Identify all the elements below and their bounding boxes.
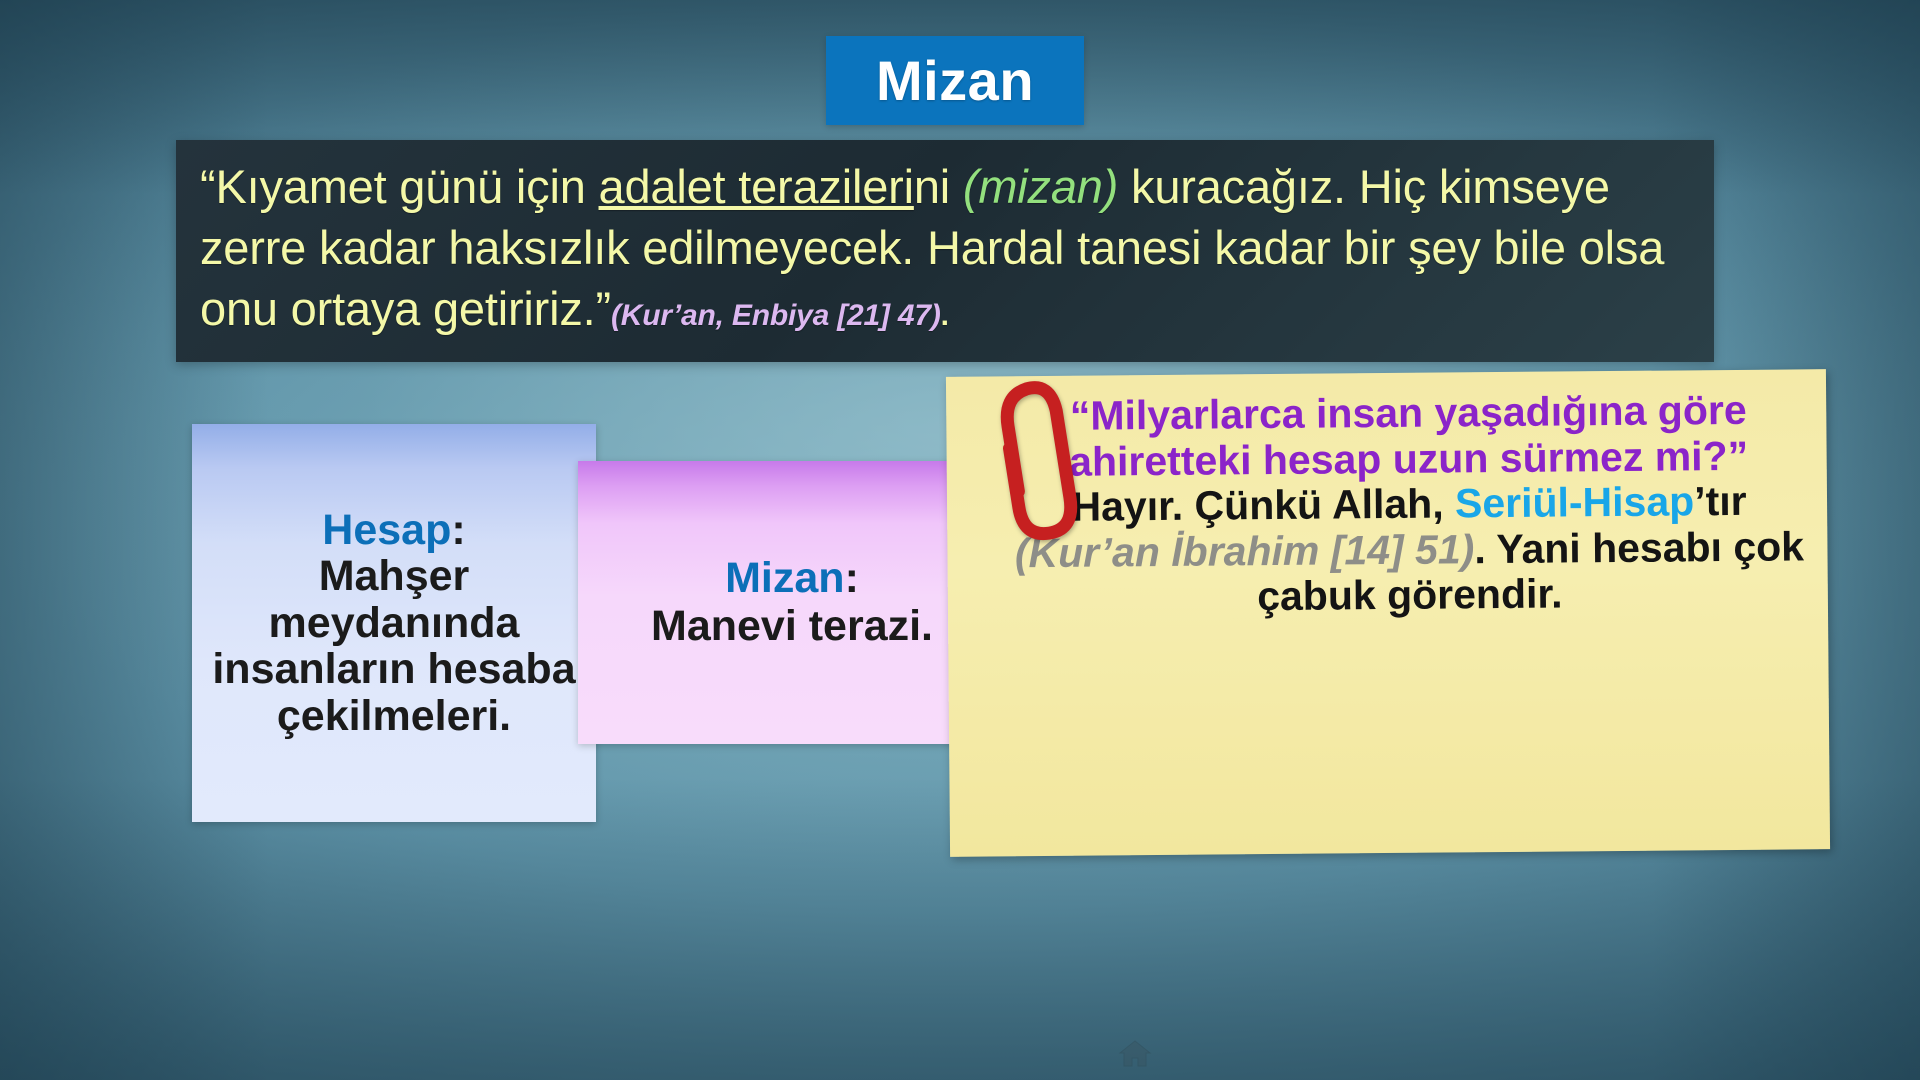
quote-close-quote: ” [595, 282, 610, 335]
mizan-colon: : [845, 554, 859, 602]
paperclip-icon [960, 352, 1100, 552]
note-answer-part-2: ’tır [1694, 478, 1747, 524]
note-term-seriul-hisap: Seriül-Hisap [1455, 478, 1695, 526]
quote-citation: (Kur’an, Enbiya [21] 47) [611, 299, 941, 332]
quote-citation-period: . [941, 299, 949, 332]
quote-underlined-phrase: adalet terazileri [599, 160, 914, 213]
quote-text: “Kıyamet günü için adalet terazilerini (… [200, 156, 1690, 339]
quote-mizan-gloss: (mizan) [963, 160, 1118, 213]
definition-card-hesap: Hesap: Mahşer meydanında insanların hesa… [192, 424, 596, 822]
mizan-card-text: Mizan: Manevi terazi. [631, 555, 933, 650]
hesap-colon: : [451, 506, 465, 554]
hesap-card-text: Hesap: Mahşer meydanında insanların hesa… [192, 507, 596, 739]
mizan-body: Manevi terazi. [651, 602, 933, 650]
hesap-keyword: Hesap [322, 506, 451, 554]
sticky-note-text: “Milyarlarca insan yaşadığına göre ahire… [1008, 387, 1810, 621]
quote-part-1: Kıyamet günü için [215, 160, 598, 213]
note-question: Milyarlarca insan yaşadığına göre ahiret… [1069, 387, 1747, 484]
quran-quote-panel: “Kıyamet günü için adalet terazilerini (… [176, 140, 1714, 362]
quote-part-2: ni [914, 160, 963, 213]
page-title: Mizan [876, 53, 1034, 109]
mizan-keyword: Mizan [725, 554, 844, 602]
slide-title-box: Mizan [826, 36, 1084, 125]
hesap-body: Mahşer meydanında insanların hesaba çeki… [212, 552, 575, 739]
quote-open-quote: “ [200, 160, 215, 213]
home-icon[interactable] [1118, 1038, 1152, 1068]
presentation-slide: Mizan “Kıyamet günü için adalet terazile… [0, 0, 1920, 1080]
note-answer-part-1: Hayır. Çünkü Allah, [1071, 480, 1455, 529]
note-close-quote: ” [1727, 432, 1748, 478]
definition-card-mizan: Mizan: Manevi terazi. [578, 461, 986, 744]
